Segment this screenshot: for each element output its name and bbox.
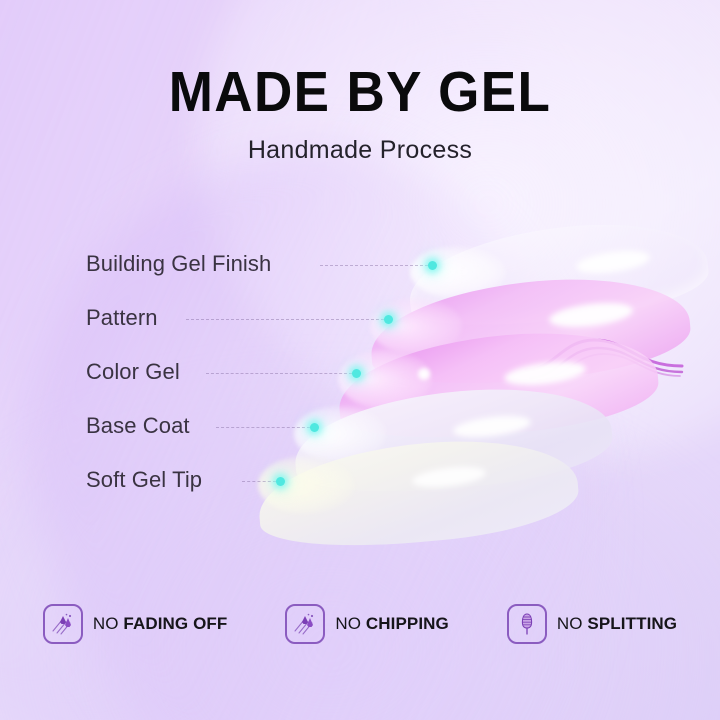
- leader-line-pattern: [186, 319, 384, 321]
- page-subtitle: Handmade Process: [0, 136, 720, 164]
- striped-nail-icon: [507, 604, 547, 644]
- nail-brush-strokes-icon: [43, 604, 83, 644]
- feature-emphasis: SPLITTING: [587, 614, 677, 633]
- callout-label-base-coat: Base Coat: [86, 414, 190, 438]
- page-title: MADE BY GEL: [25, 62, 695, 122]
- leader-line-building-gel-finish: [320, 265, 428, 267]
- callout-label-pattern: Pattern: [86, 306, 158, 330]
- feature-emphasis: FADING OFF: [123, 614, 227, 633]
- feature-badge-no-fading-off: NO FADING OFF: [43, 604, 227, 644]
- feature-badge-no-chipping: NO CHIPPING: [285, 604, 449, 644]
- anchor-dot-color-gel: [352, 369, 361, 378]
- callout-label-color-gel: Color Gel: [86, 360, 180, 384]
- feature-label-no-splitting: NO SPLITTING: [557, 614, 677, 634]
- feature-badge-no-splitting: NO SPLITTING: [507, 604, 677, 644]
- header: MADE BY GEL Handmade Process: [0, 62, 720, 164]
- infographic-canvas: MADE BY GEL Handmade Process: [0, 0, 720, 720]
- callout-label-building-gel-finish: Building Gel Finish: [86, 252, 271, 276]
- leader-line-base-coat: [216, 427, 310, 429]
- anchor-dot-soft-gel-tip: [276, 477, 285, 486]
- feature-prefix: NO: [93, 614, 124, 633]
- anchor-dot-building-gel-finish: [428, 261, 437, 270]
- nail-brush-strokes-icon: [285, 604, 325, 644]
- feature-label-no-fading-off: NO FADING OFF: [93, 614, 227, 634]
- feature-badge-row: NO FADING OFF NO CHIPPING: [0, 604, 720, 644]
- anchor-dot-pattern: [384, 315, 393, 324]
- feature-label-no-chipping: NO CHIPPING: [335, 614, 449, 634]
- anchor-dot-base-coat: [310, 423, 319, 432]
- leader-line-soft-gel-tip: [242, 481, 276, 483]
- feature-prefix: NO: [335, 614, 366, 633]
- callout-label-soft-gel-tip: Soft Gel Tip: [86, 468, 202, 492]
- feature-prefix: NO: [557, 614, 588, 633]
- leader-line-color-gel: [206, 373, 352, 375]
- feature-emphasis: CHIPPING: [366, 614, 449, 633]
